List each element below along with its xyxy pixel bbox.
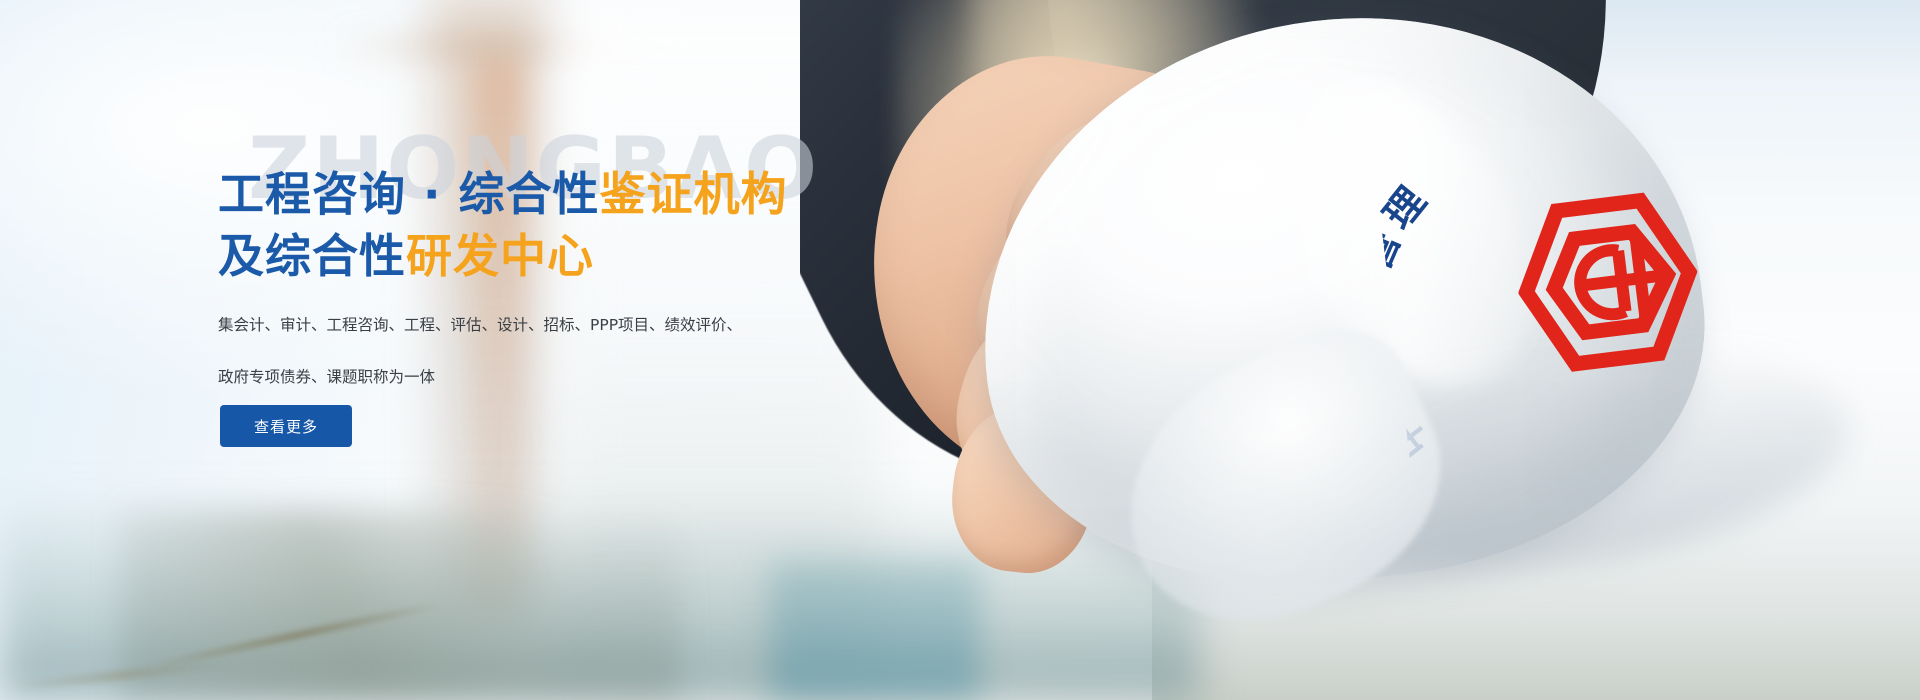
view-more-button[interactable]: 查看更多: [220, 405, 352, 447]
banner-content: ZHONGBAO 工程咨询 · 综合性鉴证机构 及综合性研发中心 集会计、审计、…: [218, 0, 918, 700]
headline-line-1-blue: 工程咨询 · 综合性: [218, 167, 600, 221]
helmet-photo-scene: 中宝工程管理: [800, 0, 1920, 700]
headline-line-2: 及综合性研发中心: [218, 225, 898, 287]
headline-line-1: 工程咨询 · 综合性鉴证机构: [218, 163, 898, 225]
description-line-2: 政府专项债券、课题职称为一体: [218, 365, 818, 389]
helmet-branding: 中宝工程管理: [1415, 121, 1749, 455]
headline: 工程咨询 · 综合性鉴证机构 及综合性研发中心: [218, 163, 898, 287]
headline-line-2-blue: 及综合性: [218, 229, 406, 283]
description-line-1: 集会计、审计、工程咨询、工程、评估、设计、招标、PPP项目、绩效评价、: [218, 313, 818, 337]
zhongbao-hexagon-logo-icon: [1508, 187, 1707, 378]
headline-line-1-orange: 鉴证机构: [600, 167, 788, 221]
hero-banner: 中宝工程管理 Z: [0, 0, 1920, 700]
headline-line-2-orange: 研发中心: [406, 229, 594, 283]
banner-description: 集会计、审计、工程咨询、工程、评估、设计、招标、PPP项目、绩效评价、 政府专项…: [218, 313, 818, 417]
